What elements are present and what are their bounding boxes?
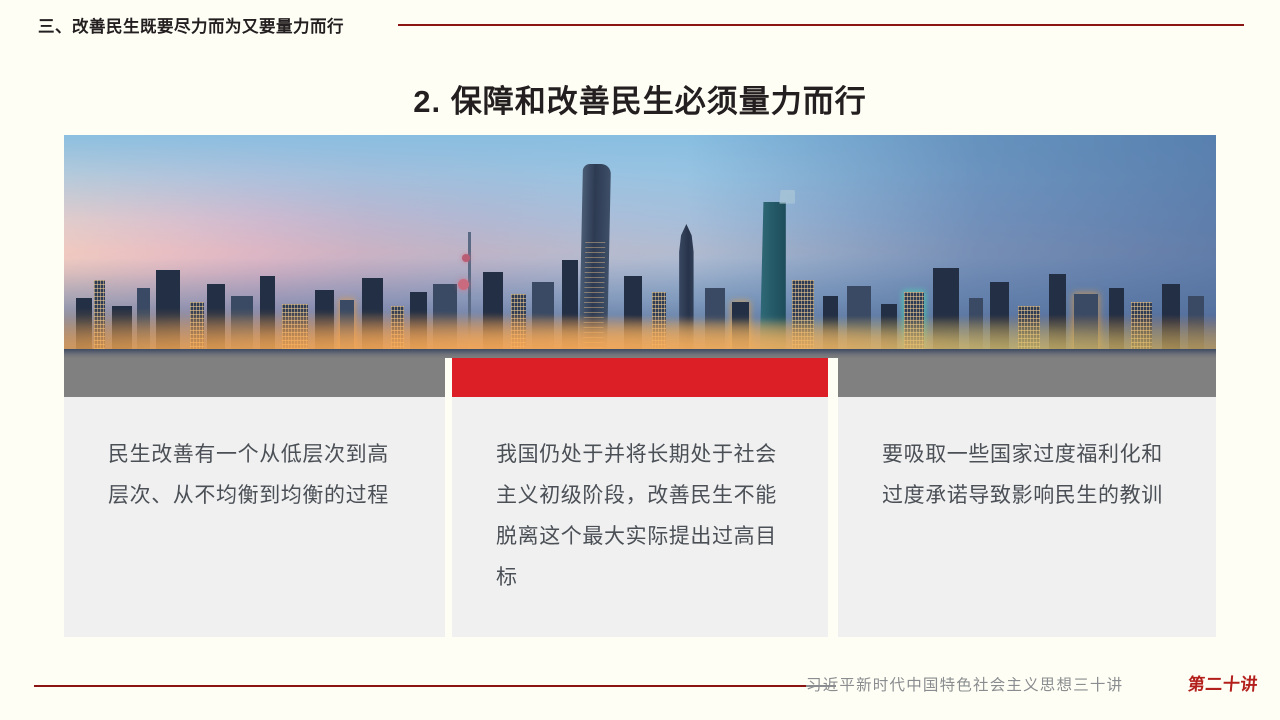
card-body-1: 民生改善有一个从低层次到高层次、从不均衡到均衡的过程 xyxy=(64,397,445,637)
point-card-2: 我国仍处于并将长期处于社会主义初级阶段，改善民生不能脱离这个最大实际提出过高目标 xyxy=(452,358,828,637)
header-divider-line xyxy=(398,24,1244,26)
footer-series-title: 习近平新时代中国特色社会主义思想三十讲 xyxy=(806,673,1123,695)
page-title: 2. 保障和改善民生必须量力而行 xyxy=(0,76,1280,121)
oriental-pearl-sphere-upper xyxy=(462,254,470,262)
card-text-1: 民生改善有一个从低层次到高层次、从不均衡到均衡的过程 xyxy=(108,435,401,517)
footer-lecture-badge: 第二十讲 xyxy=(1187,670,1259,695)
card-body-3: 要吸取一些国家过度福利化和过度承诺导致影响民生的教训 xyxy=(838,397,1216,637)
slide: 三、改善民生既要尽力而为又要量力而行 2. 保障和改善民生必须量力而行 xyxy=(0,0,1280,720)
card-text-3: 要吸取一些国家过度福利化和过度承诺导致影响民生的教训 xyxy=(882,435,1172,517)
card-text-2: 我国仍处于并将长期处于社会主义初级阶段，改善民生不能脱离这个最大实际提出过高目标 xyxy=(496,435,784,599)
card-band-1 xyxy=(64,358,445,397)
card-body-2: 我国仍处于并将长期处于社会主义初级阶段，改善民生不能脱离这个最大实际提出过高目标 xyxy=(452,397,828,637)
card-band-3 xyxy=(838,358,1216,397)
world-financial-center-aperture xyxy=(779,190,795,204)
skyline-photo xyxy=(64,135,1216,358)
point-card-3: 要吸取一些国家过度福利化和过度承诺导致影响民生的教训 xyxy=(838,358,1216,637)
points-row: 民生改善有一个从低层次到高层次、从不均衡到均衡的过程 我国仍处于并将长期处于社会… xyxy=(64,358,1216,637)
footer-divider-line xyxy=(34,685,834,687)
oriental-pearl-sphere-lower xyxy=(458,279,469,290)
point-card-1: 民生改善有一个从低层次到高层次、从不均衡到均衡的过程 xyxy=(64,358,445,637)
card-band-2-highlight xyxy=(452,358,828,397)
section-label: 三、改善民生既要尽力而为又要量力而行 xyxy=(38,13,344,37)
slide-header: 三、改善民生既要尽力而为又要量力而行 xyxy=(0,0,1280,50)
foreground-ground xyxy=(64,349,1216,358)
